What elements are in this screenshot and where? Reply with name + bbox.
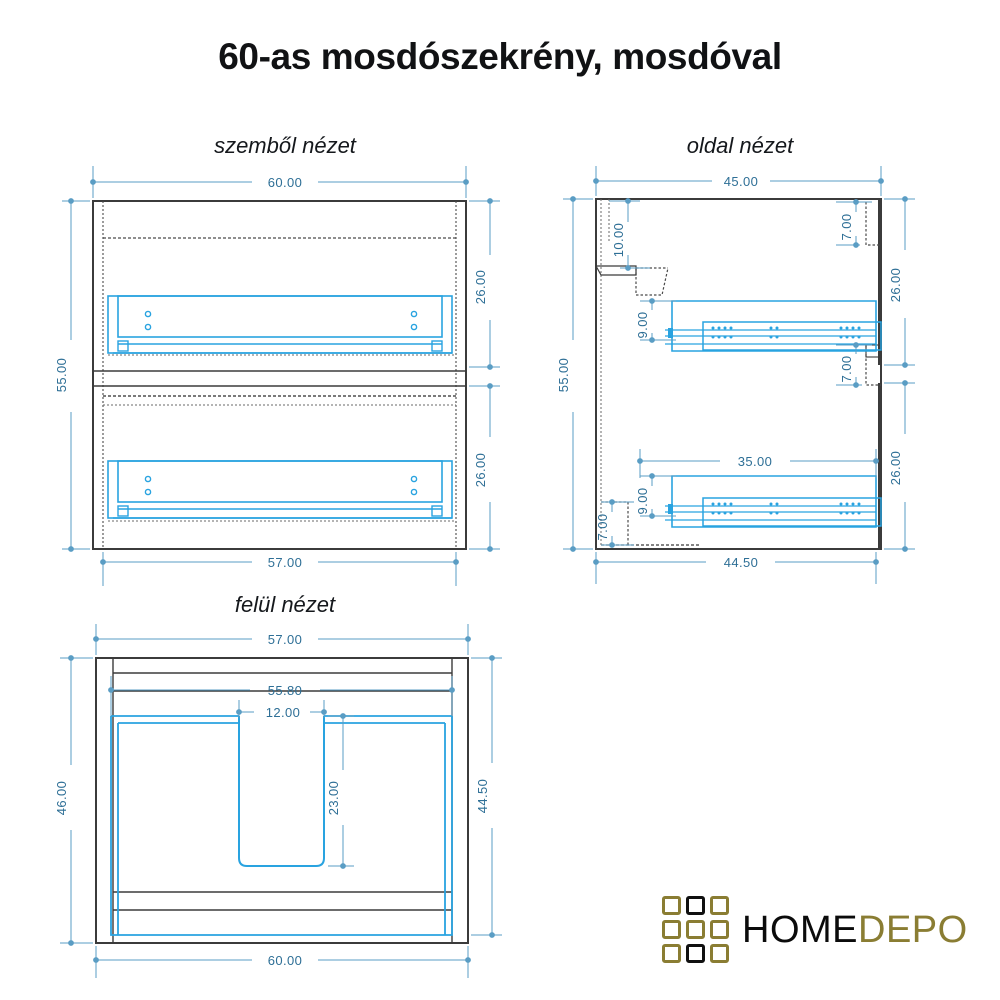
front-upper-screw-dot (145, 311, 150, 316)
side-lower-rail-holes (712, 503, 861, 515)
front-lower-right-bracket (432, 506, 442, 516)
front-lower-screw-dot (145, 489, 150, 494)
side-dim-label-55: 55.00 (556, 358, 571, 393)
view-label-front: szemből nézet (214, 133, 357, 158)
side-dim-label-9-upper: 9.00 (635, 312, 650, 339)
front-upper-drawer (108, 296, 452, 353)
logo-cell (710, 944, 729, 963)
front-dim-label-60: 60.00 (268, 175, 303, 190)
top-dim-label-23: 23.00 (326, 781, 341, 816)
logo-cell (710, 896, 729, 915)
side-dim-label-26-upper: 26.00 (888, 268, 903, 303)
logo-cell (710, 920, 729, 939)
front-upper-drawer-inner (118, 296, 442, 337)
front-dim-label-26-lower: 26.00 (473, 453, 488, 488)
front-cabinet-body (93, 201, 466, 549)
side-dim-label-35: 35.00 (738, 454, 773, 469)
side-upper-rail-holes (712, 327, 861, 339)
side-dim-label-7-top: 7.00 (839, 214, 854, 241)
front-upper-screw-dot (145, 324, 150, 329)
logo-word-home: HOME (742, 909, 858, 951)
side-dim-label-26-lower: 26.00 (888, 451, 903, 486)
top-dim-label-5580: 55.80 (268, 683, 303, 698)
top-view: 57.00 55.80 12.00 23.00 (54, 624, 502, 978)
side-dim-label-4450: 44.50 (724, 555, 759, 570)
front-lower-left-bracket (118, 506, 128, 516)
front-dim-label-57: 57.00 (268, 555, 303, 570)
top-dim-label-4450: 44.50 (475, 779, 490, 814)
logo-cell (662, 920, 681, 939)
logo-grid-icon (662, 896, 729, 963)
side-dim-label-9-lower: 9.00 (635, 488, 650, 515)
logo-wordmark: HOMEDEPO (742, 911, 968, 949)
logo-cell (662, 896, 681, 915)
side-upper-drawer (665, 301, 881, 351)
front-view: 60.00 57.00 55.00 26.00 (54, 166, 500, 586)
side-dim-label-7-mid: 7.00 (839, 356, 854, 383)
front-dim-label-55: 55.00 (54, 358, 69, 393)
side-dim-label-7-bottom: 7.00 (595, 514, 610, 541)
front-upper-left-bracket (118, 341, 128, 351)
logo-word-depo: DEPO (858, 909, 968, 951)
front-upper-screw-dot (411, 324, 416, 329)
side-lower-slide-stop (668, 504, 673, 514)
side-lower-drawer (665, 476, 881, 527)
side-dim-label-10: 10.00 (611, 223, 626, 258)
top-dim-label-57: 57.00 (268, 632, 303, 647)
side-dim-label-45: 45.00 (724, 174, 759, 189)
front-upper-right-bracket (432, 341, 442, 351)
top-cabinet-body (96, 658, 468, 943)
front-lower-drawer (108, 461, 452, 518)
homedepo-logo: HOMEDEPO (662, 896, 968, 963)
top-dim-label-46: 46.00 (54, 781, 69, 816)
side-sink-bowl (596, 266, 668, 295)
front-upper-screw-dot (411, 311, 416, 316)
logo-cell (686, 944, 705, 963)
top-dim-label-60: 60.00 (268, 953, 303, 968)
front-lower-screw-dot (411, 489, 416, 494)
logo-cell (662, 944, 681, 963)
front-lower-screw-dot (145, 476, 150, 481)
front-lower-screw-dot (411, 476, 416, 481)
side-upper-slide-stop (668, 328, 673, 338)
view-label-top: felül nézet (235, 592, 336, 617)
front-dim-label-26-upper: 26.00 (473, 270, 488, 305)
top-worktop (111, 716, 452, 935)
logo-cell (686, 920, 705, 939)
technical-drawing-sheet: szemből nézet oldal nézet felül nézet (0, 0, 1000, 1000)
drawing-canvas: szemből nézet oldal nézet felül nézet (0, 0, 1000, 1000)
front-lower-drawer-inner (118, 461, 442, 502)
top-dim-label-12: 12.00 (266, 705, 301, 720)
view-label-side: oldal nézet (687, 133, 794, 158)
side-view: 45.00 44.50 55.00 26.00 (556, 166, 915, 584)
logo-cell (686, 896, 705, 915)
top-basin-cutout (239, 716, 324, 866)
